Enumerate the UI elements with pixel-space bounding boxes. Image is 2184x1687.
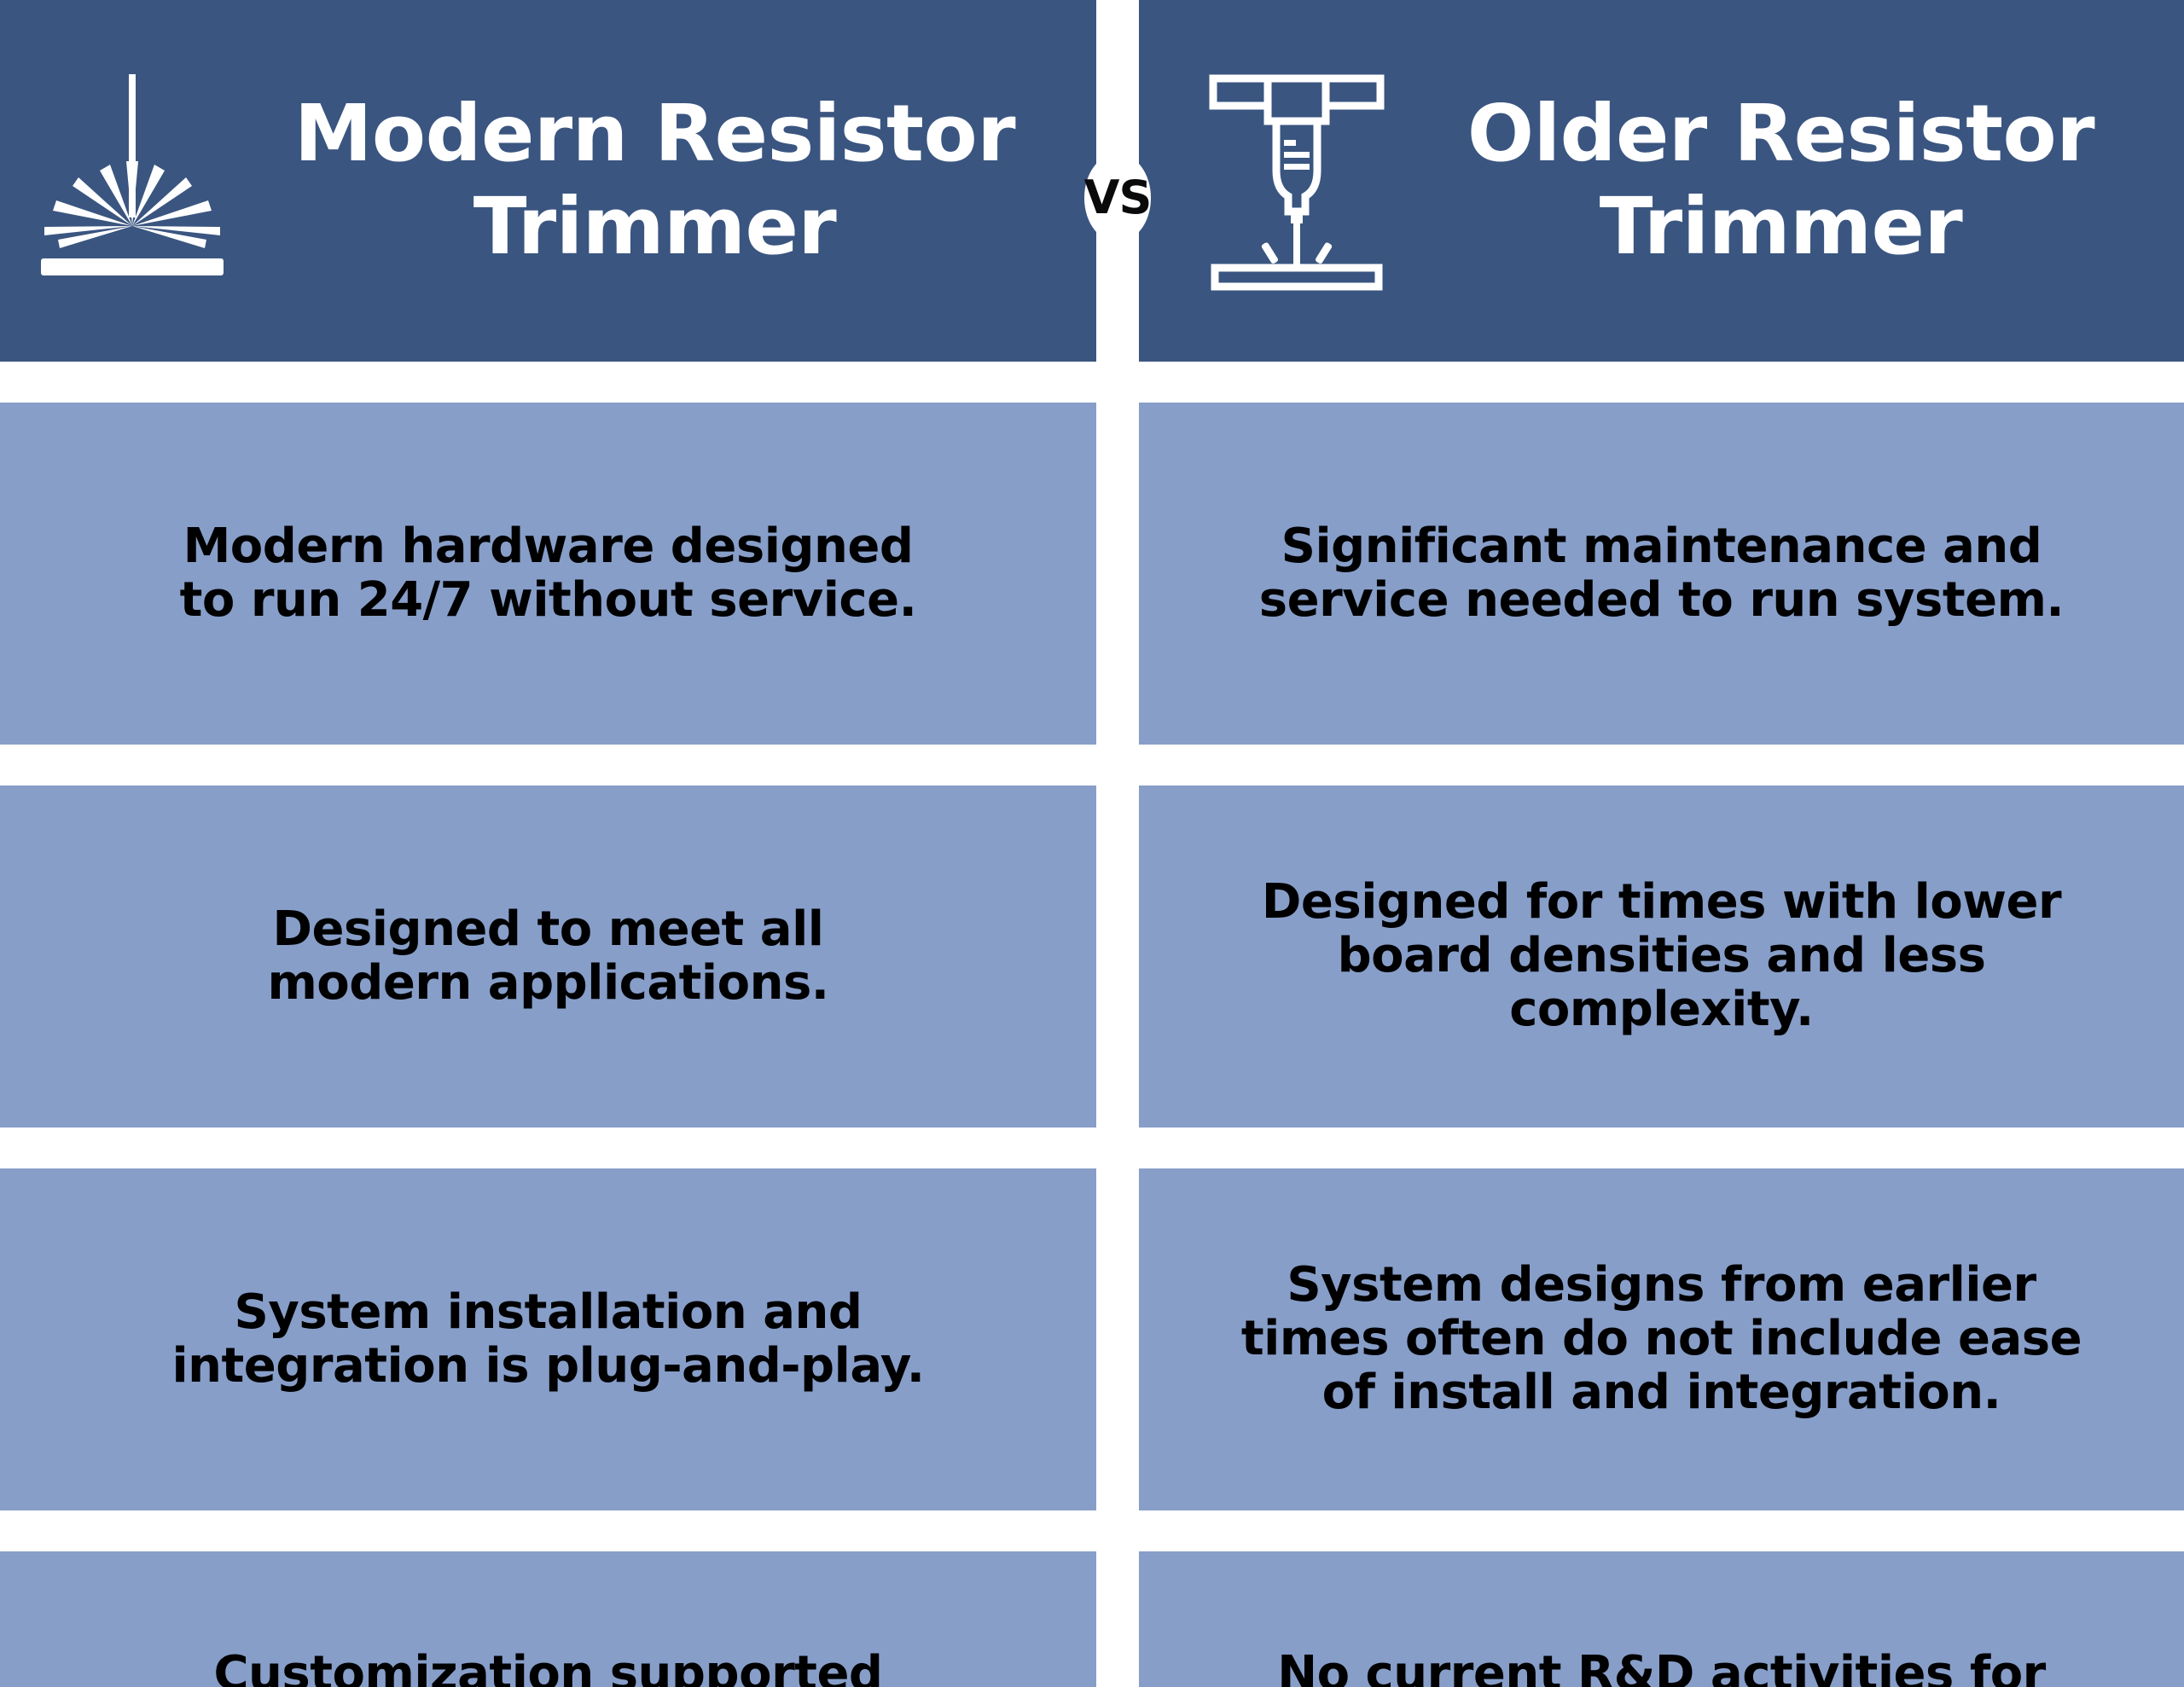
comparison-infographic: Modern Resistor Trimmer	[0, 0, 2184, 1687]
header-title-left: Modern Resistor Trimmer	[239, 88, 1096, 273]
comparison-row: System installation and integration is p…	[0, 1168, 2184, 1510]
cell-text: Customization supported by current R&D a…	[205, 1648, 892, 1687]
cell-text: System designs from earlier times often …	[1241, 1259, 2082, 1419]
row-center-gutter	[1096, 786, 1139, 1128]
comparison-cell-right: System designs from earlier times often …	[1139, 1168, 2184, 1510]
comparison-row: Modern hardware designed to run 24/7 wit…	[0, 403, 2184, 745]
cell-text: System installation and integration is p…	[171, 1286, 924, 1393]
cell-text: No current R&D activities for many older…	[1277, 1648, 2046, 1687]
row-center-gutter	[1096, 403, 1139, 745]
row-center-gutter	[1096, 1168, 1139, 1510]
header-panel-left: Modern Resistor Trimmer	[0, 0, 1096, 362]
cell-text: Modern hardware designed to run 24/7 wit…	[180, 520, 917, 627]
laser-burst-icon	[26, 57, 239, 304]
mechanical-trimmer-head-icon	[1190, 57, 1403, 304]
vs-badge: VS	[1096, 155, 1139, 241]
vs-badge-label: VS	[1084, 175, 1152, 221]
comparison-row: Customization supported by current R&D a…	[0, 1551, 2184, 1687]
cell-text: Designed to meet all modern applications…	[267, 903, 828, 1010]
cell-text: Significant maintenance and service need…	[1259, 520, 2064, 627]
comparison-cell-left: Customization supported by current R&D a…	[0, 1551, 1096, 1687]
vs-badge-circle: VS	[1084, 154, 1152, 242]
comparison-cell-left: Designed to meet all modern applications…	[0, 786, 1096, 1128]
header-panel-right: Older Resistor Trimmer	[1139, 0, 2184, 362]
row-center-gutter	[1096, 1551, 1139, 1687]
comparison-cell-left: Modern hardware designed to run 24/7 wit…	[0, 403, 1096, 745]
header-title-right: Older Resistor Trimmer	[1403, 88, 2184, 273]
comparison-cell-right: Significant maintenance and service need…	[1139, 403, 2184, 745]
comparison-row: Designed to meet all modern applications…	[0, 786, 2184, 1128]
comparison-rows: Modern hardware designed to run 24/7 wit…	[0, 362, 2184, 1687]
comparison-cell-right: No current R&D activities for many older…	[1139, 1551, 2184, 1687]
cell-text: Designed for times with lower board dens…	[1262, 876, 2061, 1036]
header: Modern Resistor Trimmer	[0, 0, 2184, 362]
comparison-cell-left: System installation and integration is p…	[0, 1168, 1096, 1510]
comparison-cell-right: Designed for times with lower board dens…	[1139, 786, 2184, 1128]
